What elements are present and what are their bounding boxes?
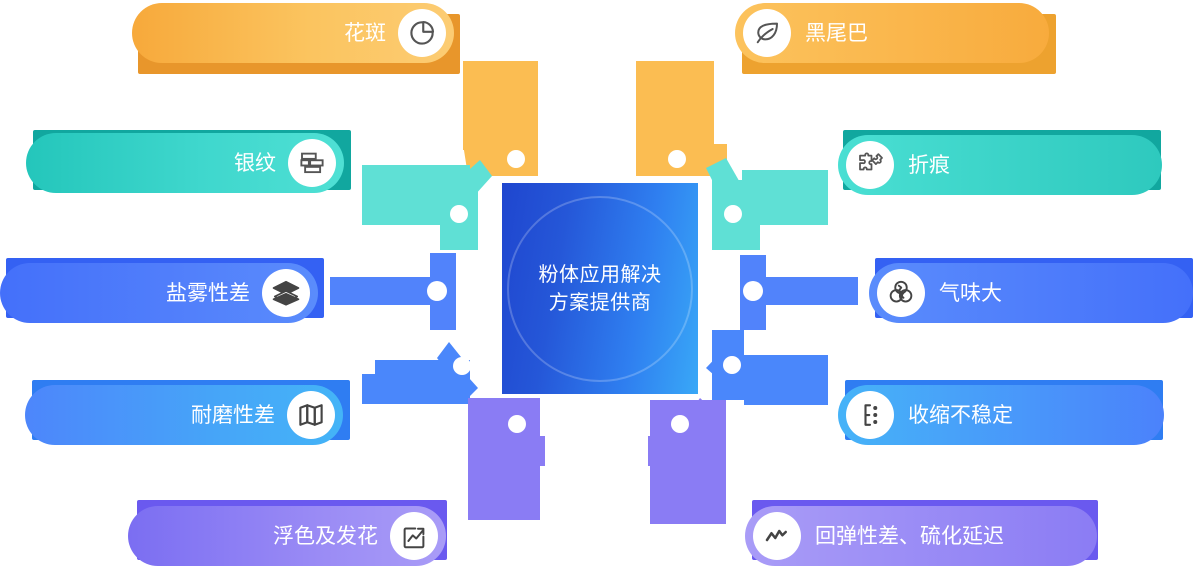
molecule-icon — [846, 391, 894, 439]
pill-right-5-label: 回弹性差、硫化延迟 — [815, 526, 1004, 547]
pill-left-5[interactable]: 浮色及发花 — [128, 506, 446, 566]
layers-icon — [262, 269, 310, 317]
recycle-icon — [877, 269, 925, 317]
connector-right-2 — [706, 158, 828, 250]
center-node[interactable]: 粉体应用解决 方案提供商 — [502, 183, 698, 394]
connector-right-4 — [706, 330, 828, 405]
pill-left-3-label: 盐雾性差 — [166, 283, 250, 304]
connector-left-4 — [362, 342, 478, 404]
center-title: 粉体应用解决 方案提供商 — [502, 261, 698, 317]
pill-right-1-label: 黑尾巴 — [805, 23, 868, 44]
connector-left-5 — [468, 398, 545, 520]
pie-chart-icon — [398, 9, 446, 57]
pill-right-2-label: 折痕 — [908, 155, 950, 176]
connector-right-3 — [740, 255, 858, 330]
puzzle-icon — [846, 141, 894, 189]
trending-up-icon — [390, 512, 438, 560]
pill-right-4[interactable]: 收缩不稳定 — [838, 385, 1164, 445]
pill-right-4-label: 收缩不稳定 — [908, 405, 1013, 426]
leaf-icon — [743, 9, 791, 57]
pill-left-3[interactable]: 盐雾性差 — [0, 263, 318, 323]
pill-right-2[interactable]: 折痕 — [838, 135, 1162, 195]
pill-right-3-label: 气味大 — [939, 283, 1002, 304]
pill-left-1-label: 花斑 — [344, 23, 386, 44]
pill-left-4[interactable]: 耐磨性差 — [25, 385, 343, 445]
connector-right-5 — [648, 398, 726, 524]
pill-left-1[interactable]: 花斑 — [132, 3, 454, 63]
connector-left-3 — [330, 253, 456, 330]
line-chart-icon — [753, 512, 801, 560]
connector-left-2 — [362, 160, 492, 250]
pill-right-5[interactable]: 回弹性差、硫化延迟 — [745, 506, 1097, 566]
brick-wall-icon — [288, 139, 336, 187]
pill-left-4-label: 耐磨性差 — [191, 405, 275, 426]
pill-right-1[interactable]: 黑尾巴 — [735, 3, 1049, 63]
map-icon — [287, 391, 335, 439]
pill-left-2[interactable]: 银纹 — [26, 133, 344, 193]
pill-left-5-label: 浮色及发花 — [273, 526, 378, 547]
infographic-canvas: 粉体应用解决 方案提供商 花斑 银纹 盐雾性差 — [0, 0, 1193, 577]
pill-left-2-label: 银纹 — [234, 153, 276, 174]
pill-right-3[interactable]: 气味大 — [869, 263, 1193, 323]
connector-left-1 — [463, 61, 538, 176]
